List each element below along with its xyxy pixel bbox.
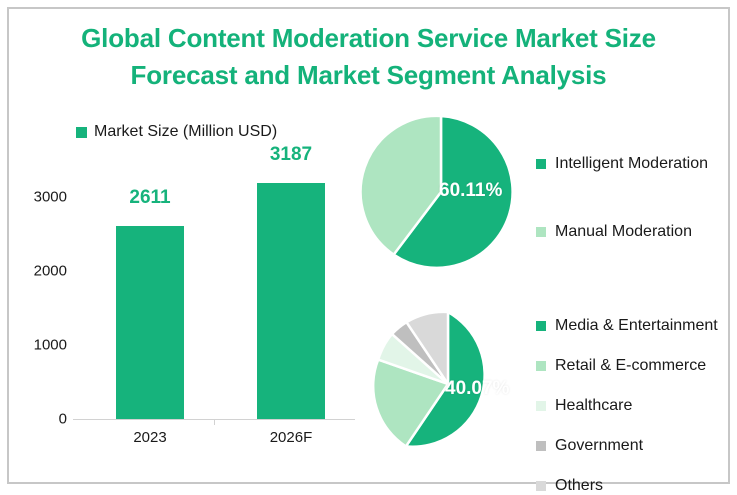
legend-item-retail-ecommerce[interactable]: Retail & E-commerce	[536, 357, 718, 375]
title-line-1: Global Content Moderation Service Market…	[9, 20, 728, 57]
legend-label-others: Others	[555, 477, 603, 495]
legend-label-intelligent-moderation: Intelligent Moderation	[555, 155, 708, 173]
legend-item-healthcare[interactable]: Healthcare	[536, 397, 718, 415]
bar-value-2026F: 3187	[257, 144, 325, 166]
pie-legend-moderation-type: Intelligent Moderation Manual Moderation	[536, 155, 708, 241]
pie-label-media-entertainment: 40.07%	[445, 378, 509, 400]
title-line-2: Forecast and Market Segment Analysis	[9, 57, 728, 94]
x-axis-tick-mid	[214, 420, 215, 425]
legend-swatch-media-entertainment	[536, 321, 546, 331]
bar-2026F[interactable]	[257, 183, 325, 419]
y-axis-tick-1000: 1000	[11, 337, 67, 354]
bar-plot-area: 3000 2000 1000 0 2611 3187 2023 2026F	[11, 107, 359, 457]
y-axis-tick-3000: 3000	[11, 189, 67, 206]
legend-swatch-healthcare	[536, 401, 546, 411]
legend-item-intelligent-moderation[interactable]: Intelligent Moderation	[536, 155, 708, 173]
pie-label-intelligent-moderation: 60.11%	[439, 180, 502, 202]
bar-value-2023: 2611	[116, 187, 184, 209]
pie-legend-application: Media & Entertainment Retail & E-commerc…	[536, 317, 718, 495]
legend-item-government[interactable]: Government	[536, 437, 718, 455]
page-title: Global Content Moderation Service Market…	[9, 20, 728, 94]
bar-chart: Market Size (Million USD) 3000 2000 1000…	[11, 107, 359, 457]
pie-chart-moderation-type: 60.11%	[361, 112, 521, 272]
legend-label-media-entertainment: Media & Entertainment	[555, 317, 718, 335]
legend-item-others[interactable]: Others	[536, 477, 718, 495]
pie-chart-application: 40.07%	[370, 306, 526, 462]
bar-2023[interactable]	[116, 226, 184, 419]
y-axis-tick-2000: 2000	[11, 263, 67, 280]
legend-item-manual-moderation[interactable]: Manual Moderation	[536, 223, 708, 241]
legend-swatch-government	[536, 441, 546, 451]
x-axis-label-2023: 2023	[116, 429, 184, 446]
legend-swatch-retail-ecommerce	[536, 361, 546, 371]
legend-label-healthcare: Healthcare	[555, 397, 632, 415]
infographic-container: Global Content Moderation Service Market…	[7, 7, 730, 484]
y-axis-tick-0: 0	[11, 411, 67, 428]
legend-swatch-intelligent-moderation	[536, 159, 546, 169]
legend-item-media-entertainment[interactable]: Media & Entertainment	[536, 317, 718, 335]
legend-label-manual-moderation: Manual Moderation	[555, 223, 692, 241]
x-axis-label-2026F: 2026F	[257, 429, 325, 446]
legend-label-retail-ecommerce: Retail & E-commerce	[555, 357, 706, 375]
legend-swatch-others	[536, 481, 546, 491]
legend-label-government: Government	[555, 437, 643, 455]
legend-swatch-manual-moderation	[536, 227, 546, 237]
